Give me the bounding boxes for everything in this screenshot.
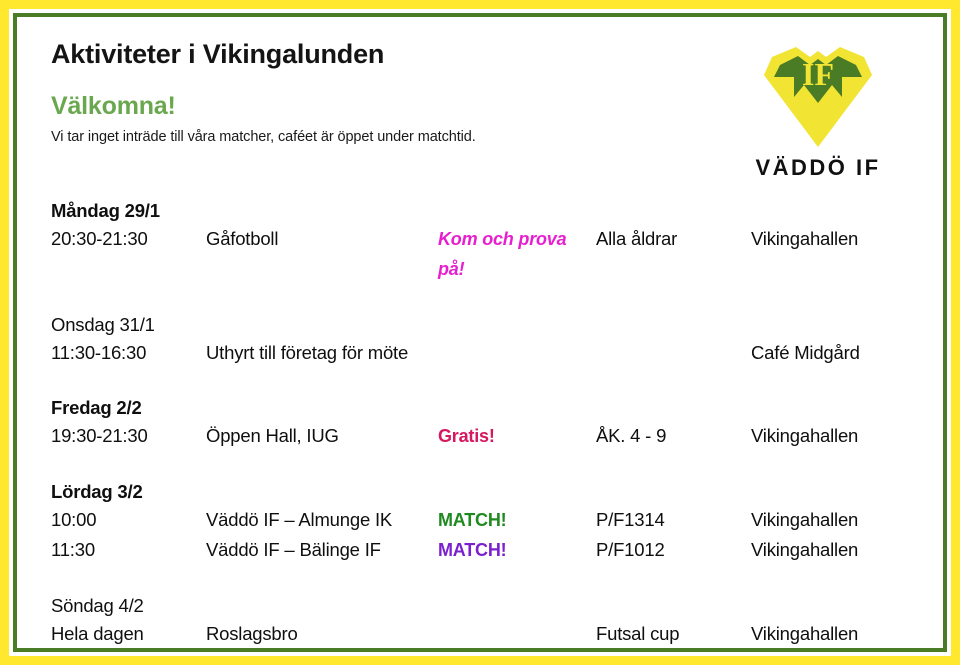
event-venue: Vikingahallen xyxy=(751,619,917,648)
event-time: Hela dagen xyxy=(51,619,206,648)
club-wordmark: VÄDDÖ IF xyxy=(733,155,903,181)
event-time: 11:30 xyxy=(51,535,206,564)
event-venue: Vikingahallen xyxy=(751,505,917,534)
event-group: P/F1012 xyxy=(596,535,751,564)
day-spacer xyxy=(43,565,917,592)
event-time: 10:00 xyxy=(51,505,206,534)
poster-header: Aktiviteter i Vikingalunden Välkomna! Vi… xyxy=(43,39,917,189)
event-activity: Väddö IF – Almunge IK xyxy=(206,505,438,534)
event-time: 11:30-16:30 xyxy=(51,338,206,367)
schedule-list: Måndag 29/120:30-21:30GåfotbollKom och p… xyxy=(43,197,917,648)
event-tag-cell: MATCH! xyxy=(438,505,596,535)
event-tag-cell: Kom och prova på! xyxy=(438,224,596,284)
poster-frame-outer: Aktiviteter i Vikingalunden Välkomna! Vi… xyxy=(0,0,960,665)
day-heading: Onsdag 31/1 xyxy=(43,311,917,338)
day-spacer xyxy=(43,367,917,394)
event-tag-cell: Gratis! xyxy=(438,421,596,451)
day-heading: Måndag 29/1 xyxy=(43,197,917,224)
event-group: P/F1314 xyxy=(596,505,751,534)
schedule-day-group: Måndag 29/120:30-21:30GåfotbollKom och p… xyxy=(43,197,917,284)
schedule-row: 19:30-21:30Öppen Hall, IUGGratis!ÅK. 4 -… xyxy=(43,421,917,451)
event-group: ÅK. 4 - 9 xyxy=(596,421,751,450)
event-time: 20:30-21:30 xyxy=(51,224,206,253)
event-highlight-badge: Kom och prova på! xyxy=(438,229,566,279)
event-venue: Vikingahallen xyxy=(751,421,917,450)
vaddo-if-shield-icon: IF xyxy=(752,41,884,153)
event-group: Alla åldrar xyxy=(596,224,751,253)
schedule-row: 11:30Väddö IF – Bälinge IFMATCH!P/F1012V… xyxy=(43,535,917,565)
event-highlight-badge: MATCH! xyxy=(438,510,506,530)
day-heading: Lördag 3/2 xyxy=(43,478,917,505)
event-activity: Väddö IF – Bälinge IF xyxy=(206,535,438,564)
day-heading: Söndag 4/2 xyxy=(43,592,917,619)
schedule-row: 11:30-16:30Uthyrt till företag för möteC… xyxy=(43,338,917,367)
event-highlight-badge: Gratis! xyxy=(438,426,495,446)
event-activity: Öppen Hall, IUG xyxy=(206,421,438,450)
event-activity: Roslagsbro xyxy=(206,619,438,648)
schedule-day-group: Söndag 4/2Hela dagenRoslagsbroFutsal cup… xyxy=(43,592,917,648)
poster-frame-inner: Aktiviteter i Vikingalunden Välkomna! Vi… xyxy=(13,13,947,652)
schedule-row: Hela dagenRoslagsbroFutsal cupVikingahal… xyxy=(43,619,917,648)
poster-frame-gap: Aktiviteter i Vikingalunden Välkomna! Vi… xyxy=(9,9,951,656)
event-venue: Vikingahallen xyxy=(751,224,917,253)
event-activity: Uthyrt till företag för möte xyxy=(206,338,438,367)
day-spacer xyxy=(43,451,917,478)
event-highlight-badge: MATCH! xyxy=(438,540,506,560)
event-tag-cell: MATCH! xyxy=(438,535,596,565)
day-heading: Fredag 2/2 xyxy=(43,394,917,421)
event-venue: Vikingahallen xyxy=(751,535,917,564)
poster-content: Aktiviteter i Vikingalunden Välkomna! Vi… xyxy=(17,17,943,648)
event-activity: Gåfotboll xyxy=(206,224,438,253)
schedule-row: 10:00Väddö IF – Almunge IKMATCH!P/F1314V… xyxy=(43,505,917,535)
schedule-day-group: Lördag 3/210:00Väddö IF – Almunge IKMATC… xyxy=(43,478,917,565)
schedule-day-group: Fredag 2/219:30-21:30Öppen Hall, IUGGrat… xyxy=(43,394,917,451)
club-logo: IF VÄDDÖ IF xyxy=(733,41,903,181)
schedule-day-group: Onsdag 31/111:30-16:30Uthyrt till företa… xyxy=(43,311,917,367)
event-time: 19:30-21:30 xyxy=(51,421,206,450)
schedule-row: 20:30-21:30GåfotbollKom och prova på!All… xyxy=(43,224,917,284)
event-group: Futsal cup xyxy=(596,619,751,648)
event-venue: Café Midgård xyxy=(751,338,917,367)
logo-monogram-text: IF xyxy=(802,56,834,92)
day-spacer xyxy=(43,284,917,311)
